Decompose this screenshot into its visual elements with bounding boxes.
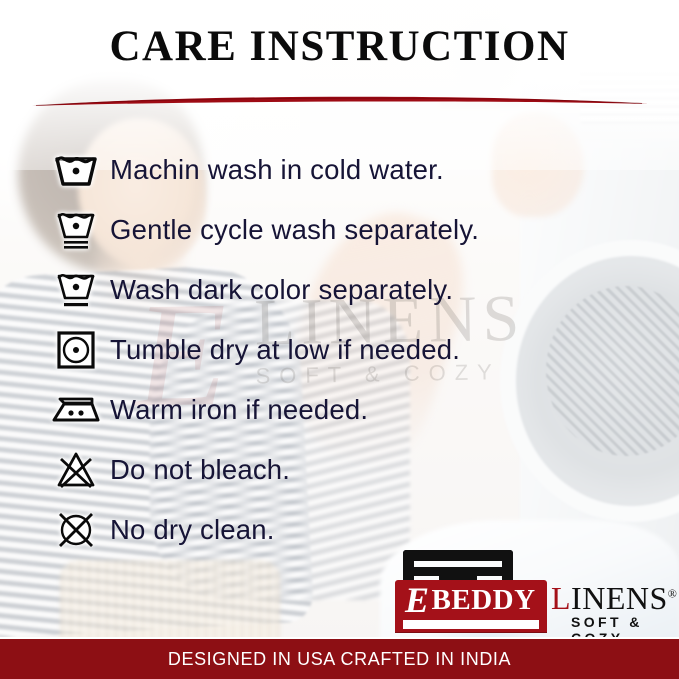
gentle-cycle-wash-icon [42, 207, 110, 253]
instruction-list: Machin wash in cold water. Gentle cycle … [42, 140, 642, 560]
warm-iron-icon [42, 391, 110, 429]
instruction-text: Gentle cycle wash separately. [110, 214, 479, 246]
machine-wash-icon [42, 150, 110, 190]
no-dry-clean-icon [42, 508, 110, 552]
instruction-row: Machin wash in cold water. [42, 140, 642, 200]
instruction-text: Wash dark color separately. [110, 274, 453, 306]
title-divider [30, 92, 650, 108]
instruction-text: Tumble dry at low if needed. [110, 334, 460, 366]
care-instruction-card: E LINENS SOFT & COZY CARE INSTRUCTION Ma… [0, 0, 679, 679]
linens-rest: INENS [571, 580, 668, 616]
badge-underline [403, 620, 539, 629]
beddy-wordmark: EBEDDY [405, 581, 545, 619]
brand-logo: EBEDDY LINENS® SOFT & COZY [395, 548, 663, 634]
do-not-bleach-icon [42, 449, 110, 491]
footer-banner: DESIGNED IN USA CRAFTED IN INDIA [0, 637, 679, 679]
linens-first-letter: L [551, 580, 571, 616]
instruction-row: Warm iron if needed. [42, 380, 642, 440]
instruction-text: Warm iron if needed. [110, 394, 368, 426]
instruction-row: Gentle cycle wash separately. [42, 200, 642, 260]
footer-text: DESIGNED IN USA CRAFTED IN INDIA [168, 649, 511, 670]
instruction-text: Do not bleach. [110, 454, 290, 486]
instruction-text: No dry clean. [110, 514, 275, 546]
permanent-press-wash-icon [42, 268, 110, 312]
instruction-text: Machin wash in cold water. [110, 154, 444, 186]
instruction-row: Do not bleach. [42, 440, 642, 500]
instruction-row: Tumble dry at low if needed. [42, 320, 642, 380]
registered-mark: ® [668, 586, 678, 600]
linens-wordmark: LINENS® [551, 580, 677, 617]
instruction-row: Wash dark color separately. [42, 260, 642, 320]
script-e-letter: E [405, 582, 430, 618]
beddy-text: BEDDY [432, 584, 536, 617]
tumble-dry-low-icon [42, 328, 110, 372]
page-title: CARE INSTRUCTION [0, 22, 679, 71]
